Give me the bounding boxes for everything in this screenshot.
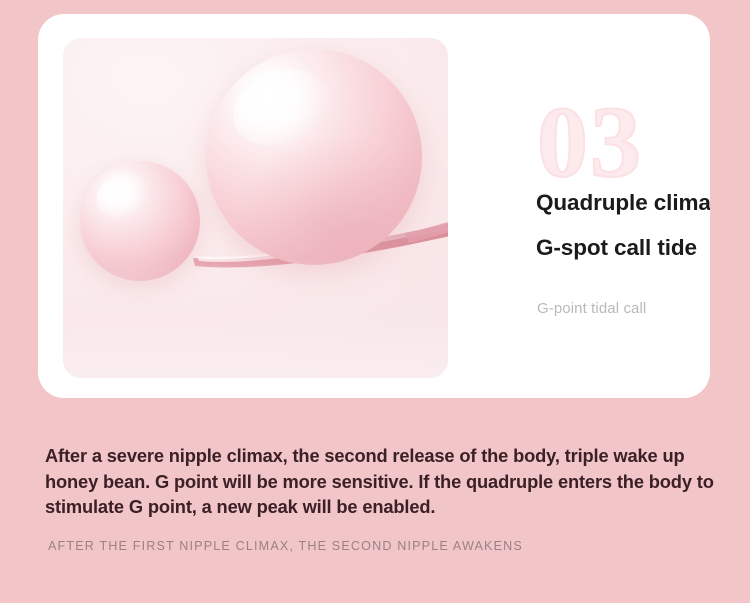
step-number-watermark: 03 — [537, 92, 643, 194]
product-image — [63, 38, 448, 378]
headline-subtitle: G-point tidal call — [537, 300, 646, 317]
feature-card: 03 Quadruple climax G-spot call tide G-p… — [38, 14, 710, 398]
page-title: Quadruple climax G-spot call tide — [536, 192, 710, 259]
footer-caption: AFTER THE FIRST NIPPLE CLIMAX, THE SECON… — [48, 539, 523, 553]
description-paragraph: After a severe nipple climax, the second… — [45, 443, 741, 520]
product-image-panel — [63, 38, 448, 378]
headline-line-1: Quadruple climax — [536, 190, 710, 215]
large-sphere-shading — [206, 49, 422, 265]
headline-line-2: G-spot call tide — [536, 237, 710, 260]
card-text-column: 03 Quadruple climax G-spot call tide G-p… — [498, 14, 710, 398]
surface-shadow — [63, 258, 448, 378]
